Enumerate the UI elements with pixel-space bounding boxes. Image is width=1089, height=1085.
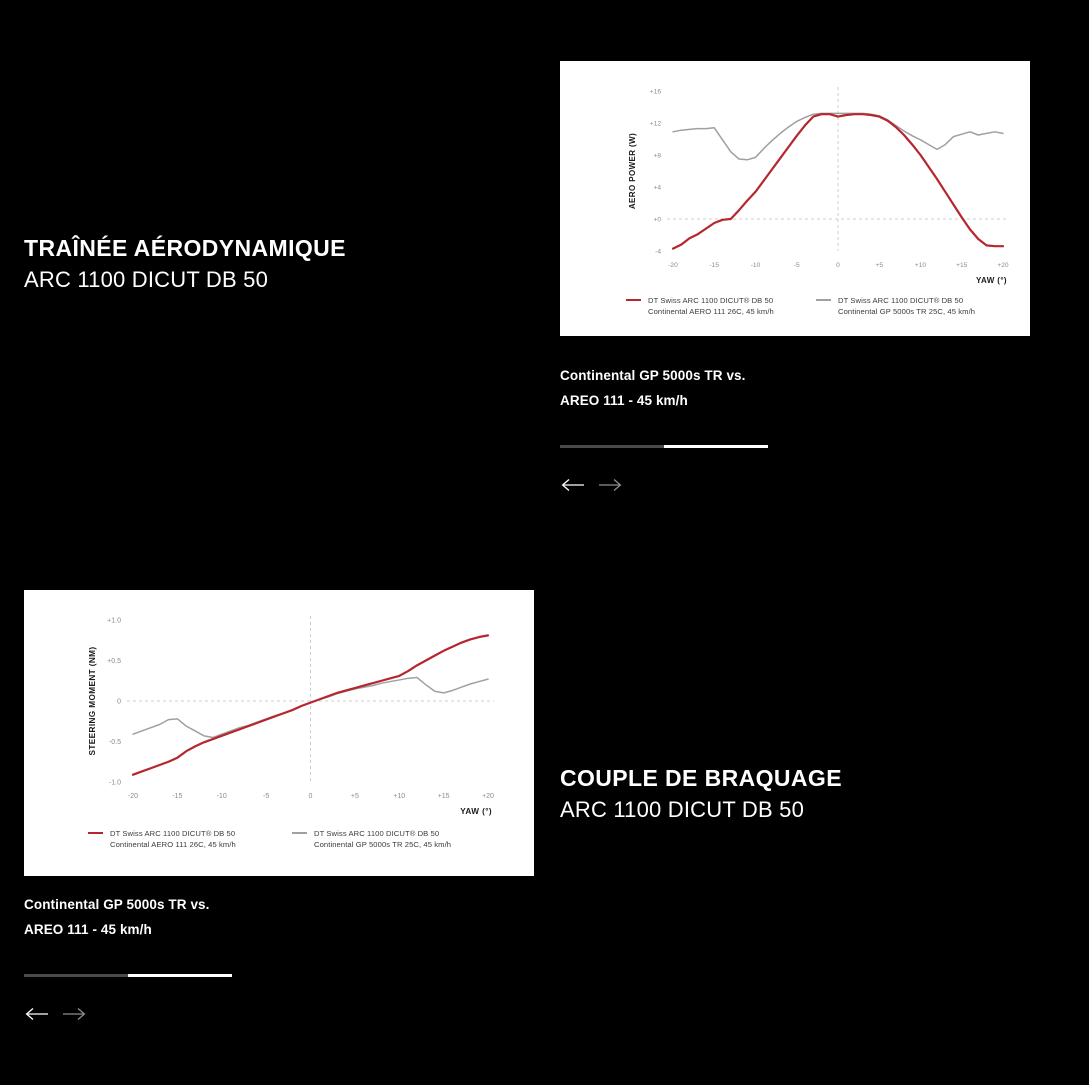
legend-label-gray-line2: Continental GP 5000s TR 25C, 45 km/h — [314, 840, 451, 849]
caption-line-1: Continental GP 5000s TR vs. — [24, 893, 210, 918]
svg-text:0: 0 — [309, 793, 313, 800]
svg-text:AERO POWER (W): AERO POWER (W) — [628, 133, 637, 209]
carousel-nav-aero-drag[interactable] — [558, 473, 625, 497]
legend-label-red-line1: DT Swiss ARC 1100 DICUT® DB 50 — [110, 829, 235, 838]
svg-text:STEERING MOMENT (NM): STEERING MOMENT (NM) — [88, 647, 97, 756]
legend-label-red-line2: Continental AERO 111 26C, 45 km/h — [648, 307, 774, 316]
svg-text:+10: +10 — [393, 793, 405, 800]
carousel-progress-steering-moment[interactable] — [24, 974, 232, 977]
svg-text:+10: +10 — [915, 262, 927, 269]
legend-item-red: DT Swiss ARC 1100 DICUT® DB 50 Continent… — [88, 828, 292, 850]
aero-power-line-chart: -4+0+4+8+12+16-20-15-10-50+5+10+15+20AER… — [560, 61, 1030, 301]
svg-text:-15: -15 — [172, 793, 182, 800]
svg-text:+12: +12 — [650, 121, 662, 128]
svg-text:0: 0 — [117, 699, 121, 706]
svg-text:-1.0: -1.0 — [109, 780, 121, 787]
chart-caption-aero-drag: Continental GP 5000s TR vs. AREO 111 - 4… — [560, 364, 746, 414]
legend-label-red-line2: Continental AERO 111 26C, 45 km/h — [110, 840, 236, 849]
svg-text:+20: +20 — [997, 262, 1009, 269]
section-heading-steering-moment: COUPLE DE BRAQUAGE ARC 1100 DICUT DB 50 — [560, 764, 842, 824]
page-title: COUPLE DE BRAQUAGE — [560, 764, 842, 792]
chart-caption-steering-moment: Continental GP 5000s TR vs. AREO 111 - 4… — [24, 893, 210, 943]
svg-text:-20: -20 — [128, 793, 138, 800]
svg-text:+8: +8 — [653, 153, 661, 160]
carousel-nav-steering-moment[interactable] — [22, 1002, 89, 1026]
progress-segment-2[interactable] — [664, 445, 768, 448]
svg-text:-5: -5 — [794, 262, 800, 269]
chart-card-aero-power: -4+0+4+8+12+16-20-15-10-50+5+10+15+20AER… — [560, 61, 1030, 336]
chart-card-steering-moment: -1.0-0.50+0.5+1.0-20-15-10-50+5+10+15+20… — [24, 590, 534, 876]
section-heading-aero-drag: TRAÎNÉE AÉRODYNAMIQUE ARC 1100 DICUT DB … — [24, 234, 346, 294]
chart-legend-steering-moment: DT Swiss ARC 1100 DICUT® DB 50 Continent… — [88, 828, 451, 850]
legend-item-gray: DT Swiss ARC 1100 DICUT® DB 50 Continent… — [292, 828, 451, 850]
legend-swatch-red-icon — [626, 299, 641, 301]
svg-text:+0: +0 — [653, 217, 661, 224]
svg-text:0: 0 — [836, 262, 840, 269]
arrow-right-icon — [598, 478, 622, 492]
legend-item-gray: DT Swiss ARC 1100 DICUT® DB 50 Continent… — [816, 295, 975, 317]
progress-segment-1[interactable] — [560, 445, 664, 448]
svg-text:+1.0: +1.0 — [107, 618, 121, 625]
legend-label-gray-line2: Continental GP 5000s TR 25C, 45 km/h — [838, 307, 975, 316]
svg-text:+5: +5 — [351, 793, 359, 800]
caption-line-1: Continental GP 5000s TR vs. — [560, 364, 746, 389]
svg-text:YAW (°): YAW (°) — [976, 276, 1007, 285]
svg-text:+4: +4 — [653, 185, 661, 192]
legend-label-red-line1: DT Swiss ARC 1100 DICUT® DB 50 — [648, 296, 773, 305]
arrow-left-icon — [561, 478, 585, 492]
steering-moment-line-chart: -1.0-0.50+0.5+1.0-20-15-10-50+5+10+15+20… — [24, 590, 534, 835]
svg-text:+15: +15 — [956, 262, 968, 269]
svg-text:+5: +5 — [875, 262, 883, 269]
svg-text:-5: -5 — [263, 793, 269, 800]
arrow-left-icon — [25, 1007, 49, 1021]
progress-segment-1[interactable] — [24, 974, 128, 977]
legend-swatch-gray-icon — [816, 299, 831, 301]
svg-text:+20: +20 — [482, 793, 494, 800]
legend-swatch-red-icon — [88, 832, 103, 834]
svg-text:+16: +16 — [650, 89, 662, 96]
page-subtitle: ARC 1100 DICUT DB 50 — [24, 266, 346, 294]
svg-text:-4: -4 — [655, 249, 661, 256]
svg-text:-15: -15 — [709, 262, 719, 269]
legend-label-gray-line1: DT Swiss ARC 1100 DICUT® DB 50 — [314, 829, 439, 838]
carousel-prev-button[interactable] — [558, 473, 588, 497]
legend-label-gray-line1: DT Swiss ARC 1100 DICUT® DB 50 — [838, 296, 963, 305]
legend-swatch-gray-icon — [292, 832, 307, 834]
chart-legend-aero-power: DT Swiss ARC 1100 DICUT® DB 50 Continent… — [626, 295, 975, 317]
arrow-right-icon — [62, 1007, 86, 1021]
progress-segment-2[interactable] — [128, 974, 232, 977]
carousel-next-button[interactable] — [595, 473, 625, 497]
svg-text:+0.5: +0.5 — [107, 658, 121, 665]
legend-item-red: DT Swiss ARC 1100 DICUT® DB 50 Continent… — [626, 295, 816, 317]
carousel-next-button[interactable] — [59, 1002, 89, 1026]
svg-text:YAW (°): YAW (°) — [460, 807, 492, 816]
page-subtitle: ARC 1100 DICUT DB 50 — [560, 796, 842, 824]
svg-text:-10: -10 — [751, 262, 761, 269]
svg-text:+15: +15 — [438, 793, 450, 800]
caption-line-2: AREO 111 - 45 km/h — [560, 389, 746, 414]
carousel-progress-aero-drag[interactable] — [560, 445, 768, 448]
svg-text:-10: -10 — [217, 793, 227, 800]
svg-text:-20: -20 — [668, 262, 678, 269]
carousel-prev-button[interactable] — [22, 1002, 52, 1026]
page-title: TRAÎNÉE AÉRODYNAMIQUE — [24, 234, 346, 262]
svg-text:-0.5: -0.5 — [109, 739, 121, 746]
caption-line-2: AREO 111 - 45 km/h — [24, 918, 210, 943]
